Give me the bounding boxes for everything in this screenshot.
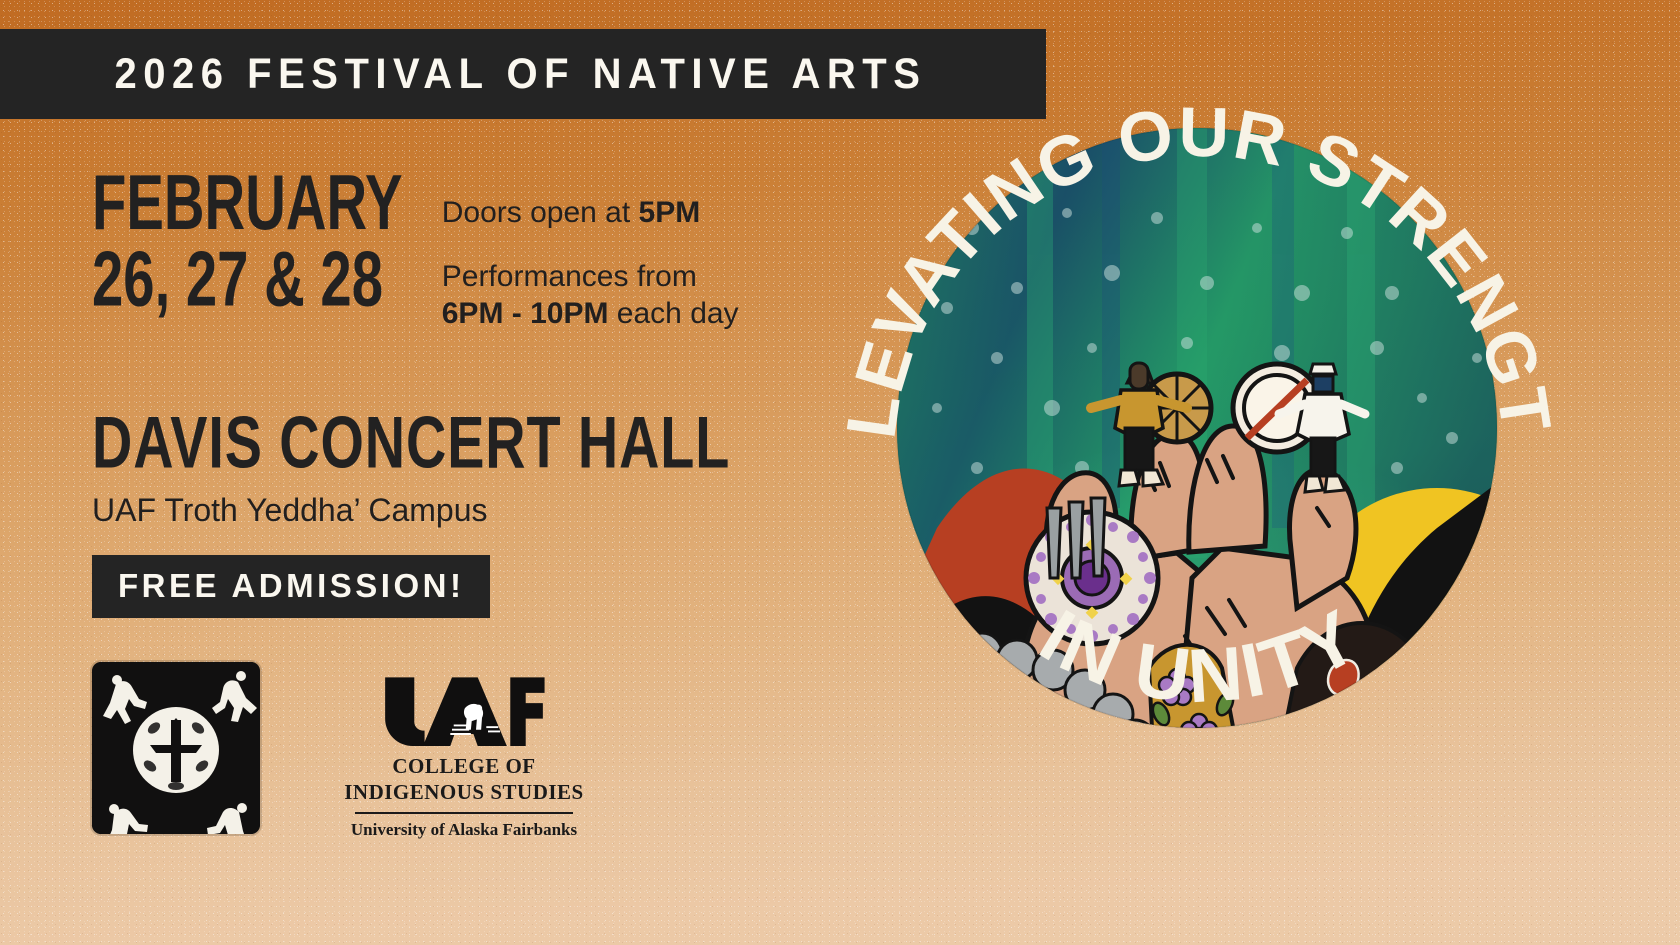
jingle-cones [1047, 498, 1105, 578]
uaf-wordmark-icon [378, 674, 550, 746]
performances-time: 6PM - 10PM [442, 297, 609, 330]
event-details-block: FEBRUARY 26, 27 & 28 Doors open at 5PM P… [92, 170, 852, 618]
venue-campus: UAF Troth Yeddha’ Campus [92, 492, 852, 529]
uaf-college-of-indigenous-studies-logo: COLLEGE OF INDIGENOUS STUDIES University… [344, 662, 584, 840]
date-and-times-row: FEBRUARY 26, 27 & 28 Doors open at 5PM P… [92, 170, 852, 333]
poster-canvas: 2026 FESTIVAL OF NATIVE ARTS FEBRUARY 26… [0, 0, 1680, 945]
event-times: Doors open at 5PM Performances from 6PM … [442, 194, 739, 333]
uaf-logo-line-1: COLLEGE OF [344, 754, 584, 779]
venue-block: DAVIS CONCERT HALL UAF Troth Yeddha’ Cam… [92, 411, 852, 619]
performances-suffix: each day [608, 297, 738, 330]
event-days: 26, 27 & 28 [92, 246, 403, 313]
performances-line: Performances from 6PM - 10PM each day [442, 258, 739, 333]
free-admission-badge: FREE ADMISSION! [92, 555, 490, 618]
fna-logo-artwork [92, 662, 260, 834]
uaf-logo-divider [355, 812, 573, 814]
artwork-clipped-group [877, 108, 1517, 748]
event-date: FEBRUARY 26, 27 & 28 [92, 170, 403, 313]
festival-artwork-circle [877, 108, 1517, 748]
logo-row: COLLEGE OF INDIGENOUS STUDIES University… [92, 662, 584, 840]
festival-title: 2026 FESTIVAL OF NATIVE ARTS [114, 50, 926, 99]
performances-label: Performances from [442, 258, 739, 296]
title-banner: 2026 FESTIVAL OF NATIVE ARTS [0, 29, 1046, 119]
doors-open-time: 5PM [639, 196, 701, 229]
festival-of-native-arts-logo [92, 662, 260, 834]
event-month: FEBRUARY [92, 170, 403, 237]
uaf-logo-line-3: University of Alaska Fairbanks [344, 820, 584, 840]
venue-name: DAVIS CONCERT HALL [92, 411, 730, 477]
artwork-illustration [877, 108, 1517, 748]
doors-open-line: Doors open at 5PM [442, 194, 739, 232]
doors-open-label: Doors open at [442, 196, 639, 229]
uaf-logo-line-2: INDIGENOUS STUDIES [344, 780, 584, 805]
